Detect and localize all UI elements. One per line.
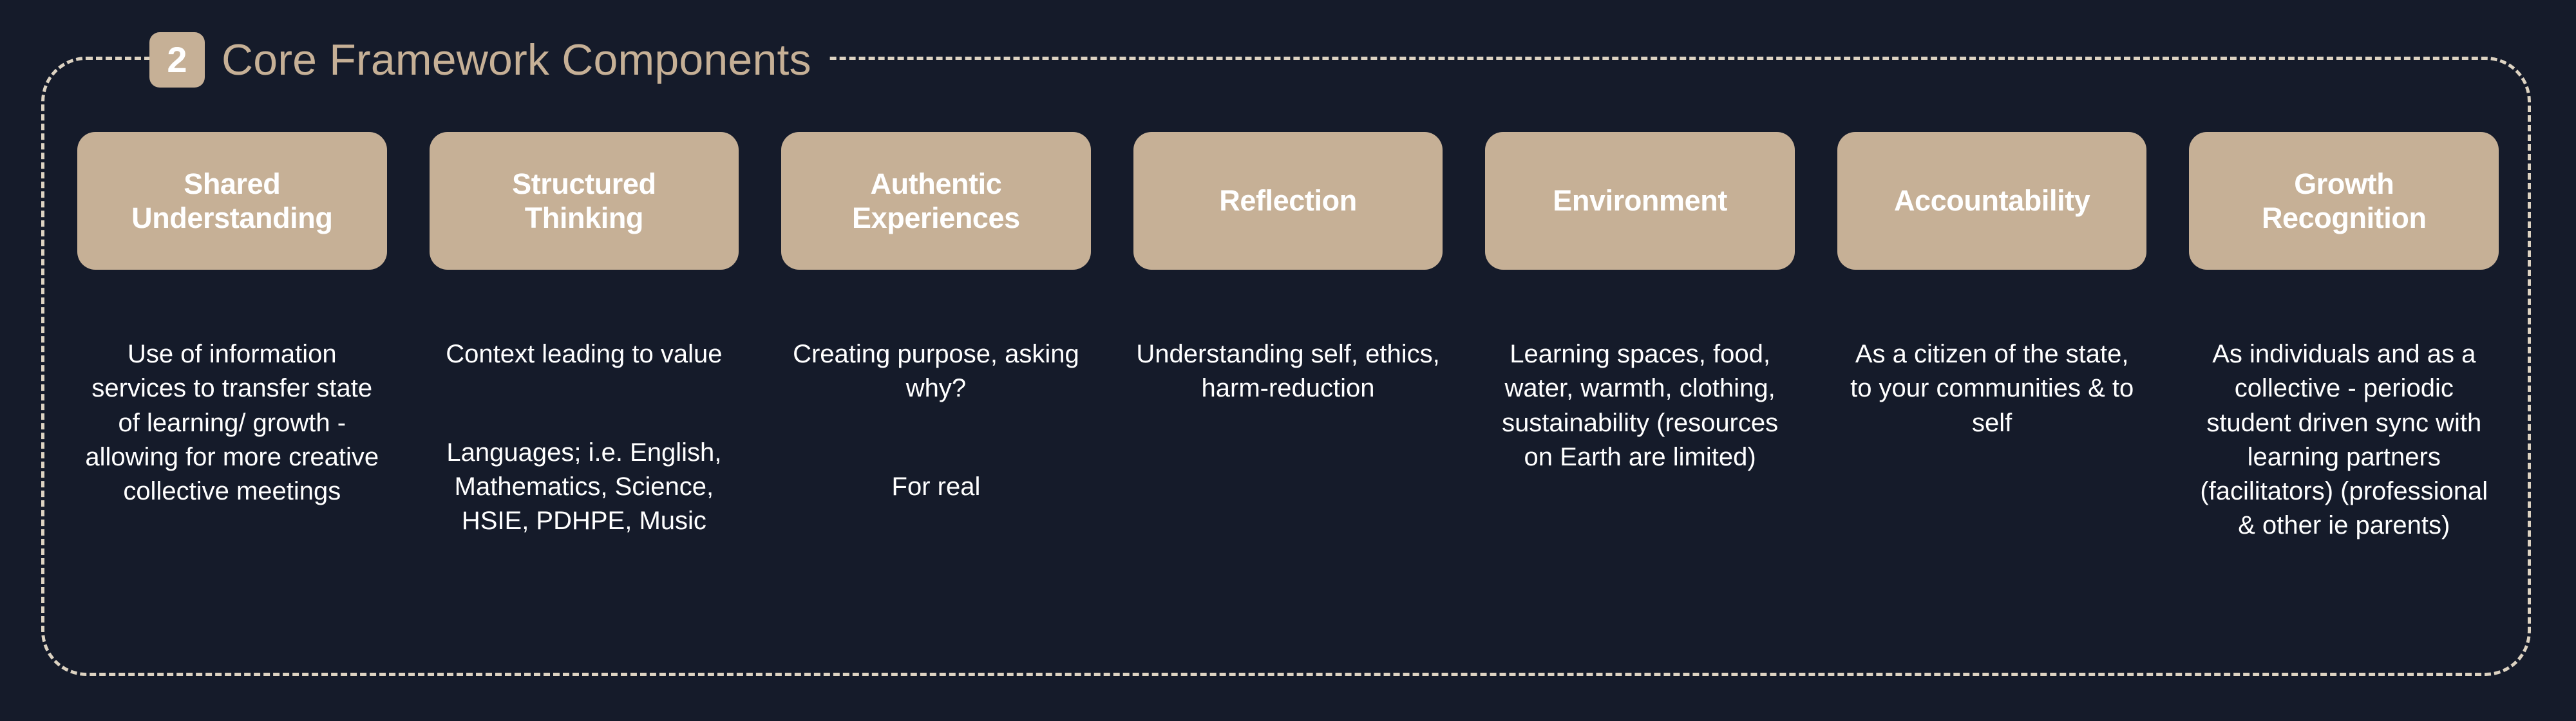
component-card-structured-thinking[interactable]: Structured Thinking Context leading to v… [430, 132, 739, 572]
framework-components-row: Shared Understanding Use of information … [77, 132, 2499, 577]
component-card-growth-recognition[interactable]: Growth Recognition As individuals and as… [2189, 132, 2499, 577]
component-card-authentic-experiences[interactable]: Authentic Experiences Creating purpose, … [781, 132, 1091, 538]
card-paragraph: Understanding self, ethics, harm-reducti… [1136, 337, 1441, 406]
card-body-environment: Learning spaces, food, water, warmth, cl… [1485, 303, 1795, 509]
card-paragraph: Use of information services to transfer … [80, 337, 384, 509]
card-header-growth-recognition[interactable]: Growth Recognition [2189, 132, 2499, 270]
component-card-accountability[interactable]: Accountability As a citizen of the state… [1837, 132, 2147, 474]
page-title: Core Framework Components [222, 38, 811, 82]
card-title-label: Structured Thinking [512, 167, 656, 235]
card-paragraph: Learning spaces, food, water, warmth, cl… [1488, 337, 1792, 474]
slide-canvas: 2 Core Framework Components Shared Under… [0, 0, 2576, 721]
card-body-reflection: Understanding self, ethics, harm-reducti… [1133, 303, 1443, 440]
card-body-shared-understanding: Use of information services to transfer … [77, 303, 387, 543]
step-number-badge: 2 [149, 32, 205, 88]
card-body-structured-thinking: Context leading to value Languages; i.e.… [430, 303, 739, 572]
card-body-growth-recognition: As individuals and as a collective - per… [2189, 303, 2499, 577]
card-title-label: Shared Understanding [131, 167, 332, 235]
component-card-environment[interactable]: Environment Learning spaces, food, water… [1485, 132, 1795, 509]
component-card-reflection[interactable]: Reflection Understanding self, ethics, h… [1133, 132, 1443, 440]
card-paragraph: Context leading to value [432, 337, 737, 371]
card-paragraph: For real [784, 470, 1088, 504]
card-paragraph: Languages; i.e. English, Mathematics, Sc… [432, 436, 737, 539]
section-heading: 2 Core Framework Components [149, 30, 828, 90]
card-title-label: Reflection [1219, 183, 1357, 218]
card-paragraph: Creating purpose, asking why? [784, 337, 1088, 406]
card-body-authentic-experiences: Creating purpose, asking why? For real [781, 303, 1091, 538]
card-title-label: Authentic Experiences [852, 167, 1020, 235]
card-header-authentic-experiences[interactable]: Authentic Experiences [781, 132, 1091, 270]
card-title-label: Growth Recognition [2262, 167, 2427, 235]
card-header-structured-thinking[interactable]: Structured Thinking [430, 132, 739, 270]
card-title-label: Accountability [1894, 183, 2090, 218]
card-header-environment[interactable]: Environment [1485, 132, 1795, 270]
card-paragraph: As individuals and as a collective - per… [2192, 337, 2496, 543]
card-header-accountability[interactable]: Accountability [1837, 132, 2147, 270]
component-card-shared-understanding[interactable]: Shared Understanding Use of information … [77, 132, 387, 543]
card-header-reflection[interactable]: Reflection [1133, 132, 1443, 270]
card-paragraph: As a citizen of the state, to your commu… [1840, 337, 2145, 440]
card-title-label: Environment [1553, 183, 1727, 218]
card-body-accountability: As a citizen of the state, to your commu… [1837, 303, 2147, 474]
card-header-shared-understanding[interactable]: Shared Understanding [77, 132, 387, 270]
